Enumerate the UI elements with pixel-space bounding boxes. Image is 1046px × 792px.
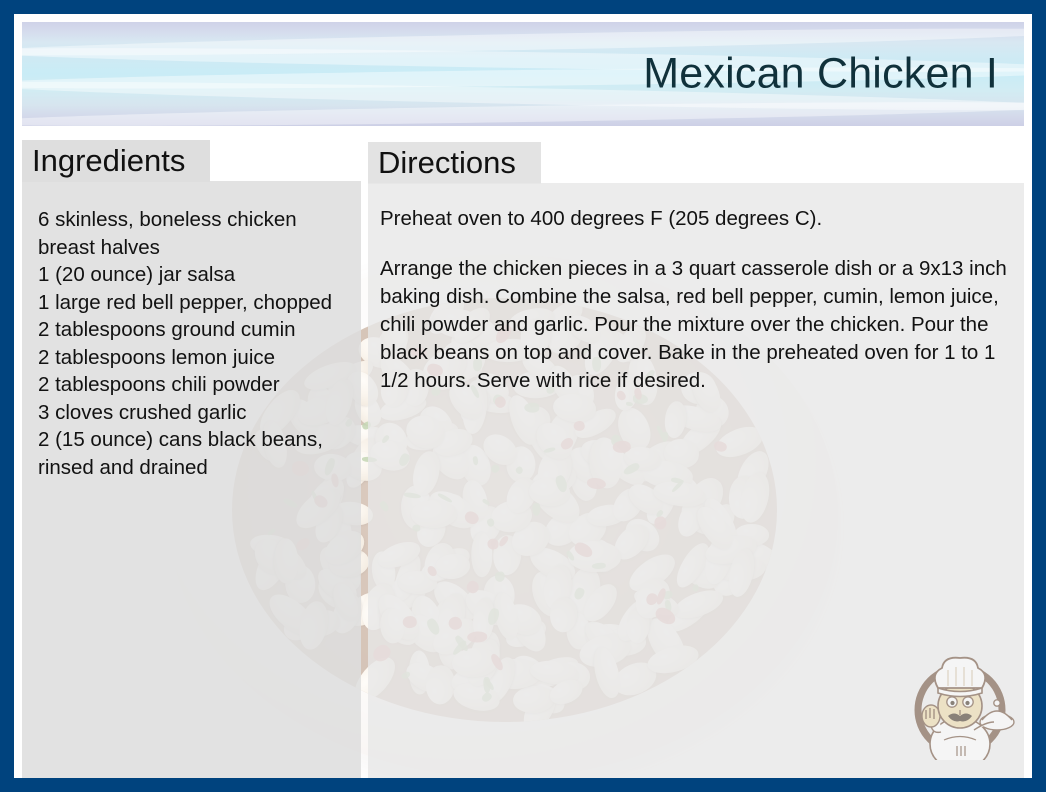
ingredients-list: 6 skinless, boneless chicken breast halv…	[38, 206, 354, 481]
ingredient-item: 2 tablespoons ground cumin	[38, 316, 354, 344]
card-inner-surface: Mexican Chicken I Ingredients 6 skinless…	[14, 14, 1032, 778]
recipe-card: Mexican Chicken I Ingredients 6 skinless…	[0, 0, 1046, 792]
ingredient-item: 3 cloves crushed garlic	[38, 399, 354, 427]
ingredient-item: 1 large red bell pepper, chopped	[38, 289, 354, 317]
ingredient-item: 2 tablespoons chili powder	[38, 371, 354, 399]
page-title: Mexican Chicken I	[643, 50, 998, 99]
ingredients-panel: 6 skinless, boneless chicken breast halv…	[22, 181, 361, 778]
title-banner: Mexican Chicken I	[22, 22, 1024, 126]
directions-heading-tab: Directions	[368, 142, 541, 184]
directions-heading-label: Directions	[378, 145, 516, 181]
ingredient-item: 1 (20 ounce) jar salsa	[38, 261, 354, 289]
ingredient-item: 2 tablespoons lemon juice	[38, 344, 354, 372]
ingredients-heading-label: Ingredients	[32, 143, 185, 179]
directions-panel: Preheat oven to 400 degrees F (205 degre…	[368, 183, 1024, 778]
directions-body: Preheat oven to 400 degrees F (205 degre…	[380, 205, 1012, 395]
ingredients-heading-tab: Ingredients	[22, 140, 210, 182]
direction-paragraph: Preheat oven to 400 degrees F (205 degre…	[380, 205, 1012, 233]
direction-paragraph: Arrange the chicken pieces in a 3 quart …	[380, 255, 1012, 395]
ingredient-item: 6 skinless, boneless chicken breast halv…	[38, 206, 354, 261]
ingredient-item: 2 (15 ounce) cans black beans, rinsed an…	[38, 426, 354, 481]
